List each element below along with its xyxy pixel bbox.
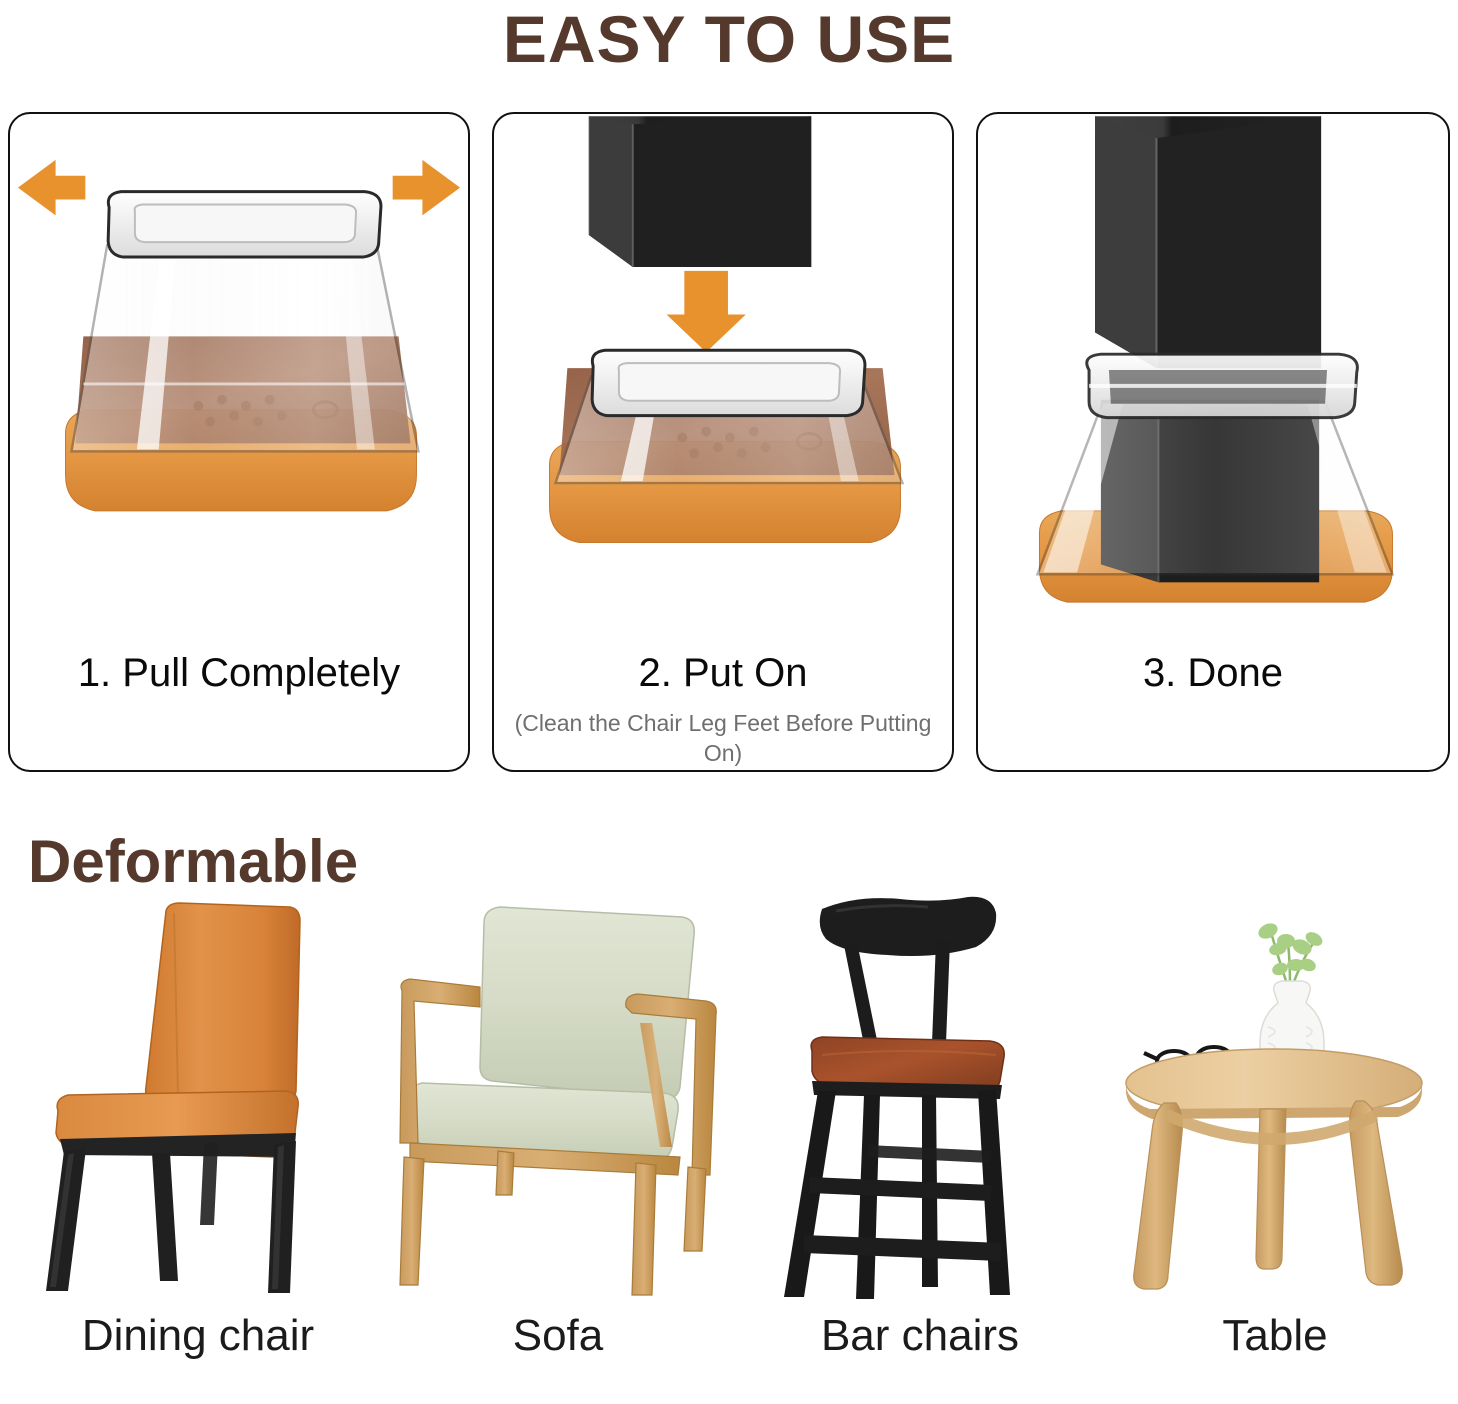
furniture-item-bar-chairs: Bar chairs [760, 895, 1080, 1404]
page-title: EASY TO USE [0, 0, 1458, 82]
arrow-left-icon [18, 160, 85, 216]
table-illustration [1110, 895, 1440, 1300]
step-3-illustration [978, 114, 1448, 639]
step-1-label: 1. Pull Completely [10, 650, 468, 696]
arrow-right-icon [393, 160, 460, 216]
furniture-row: Dining chair [0, 895, 1458, 1404]
arrow-down-icon [666, 271, 745, 352]
dining-chair-illustration [28, 895, 368, 1300]
furniture-item-sofa: Sofa [388, 895, 728, 1404]
step-3-label: 3. Done [978, 650, 1448, 696]
sofa-label: Sofa [388, 1307, 728, 1365]
step-card-1: 1. Pull Completely [8, 112, 470, 772]
steps-section: 1. Pull Completely [8, 112, 1450, 772]
step-2-note: (Clean the Chair Leg Feet Before Putting… [494, 708, 952, 768]
furniture-item-table: Table [1110, 895, 1440, 1404]
chair-leg-black [589, 116, 811, 267]
step-card-3: 3. Done [976, 112, 1450, 772]
step-2-label: 2. Put On [494, 650, 952, 696]
step-1-illustration [10, 114, 468, 639]
furniture-item-dining-chair: Dining chair [28, 895, 368, 1404]
sofa-illustration [388, 895, 728, 1300]
deformable-title: Deformable [28, 824, 358, 900]
bar-chairs-label: Bar chairs [760, 1307, 1080, 1365]
step-2-illustration [494, 114, 952, 639]
step-card-2: 2. Put On (Clean the Chair Leg Feet Befo… [492, 112, 954, 772]
chair-leg-black-upper [1095, 116, 1321, 368]
dining-chair-label: Dining chair [28, 1307, 368, 1365]
table-label: Table [1110, 1307, 1440, 1365]
plant-icon [1256, 920, 1325, 987]
bar-chair-illustration [760, 895, 1080, 1300]
